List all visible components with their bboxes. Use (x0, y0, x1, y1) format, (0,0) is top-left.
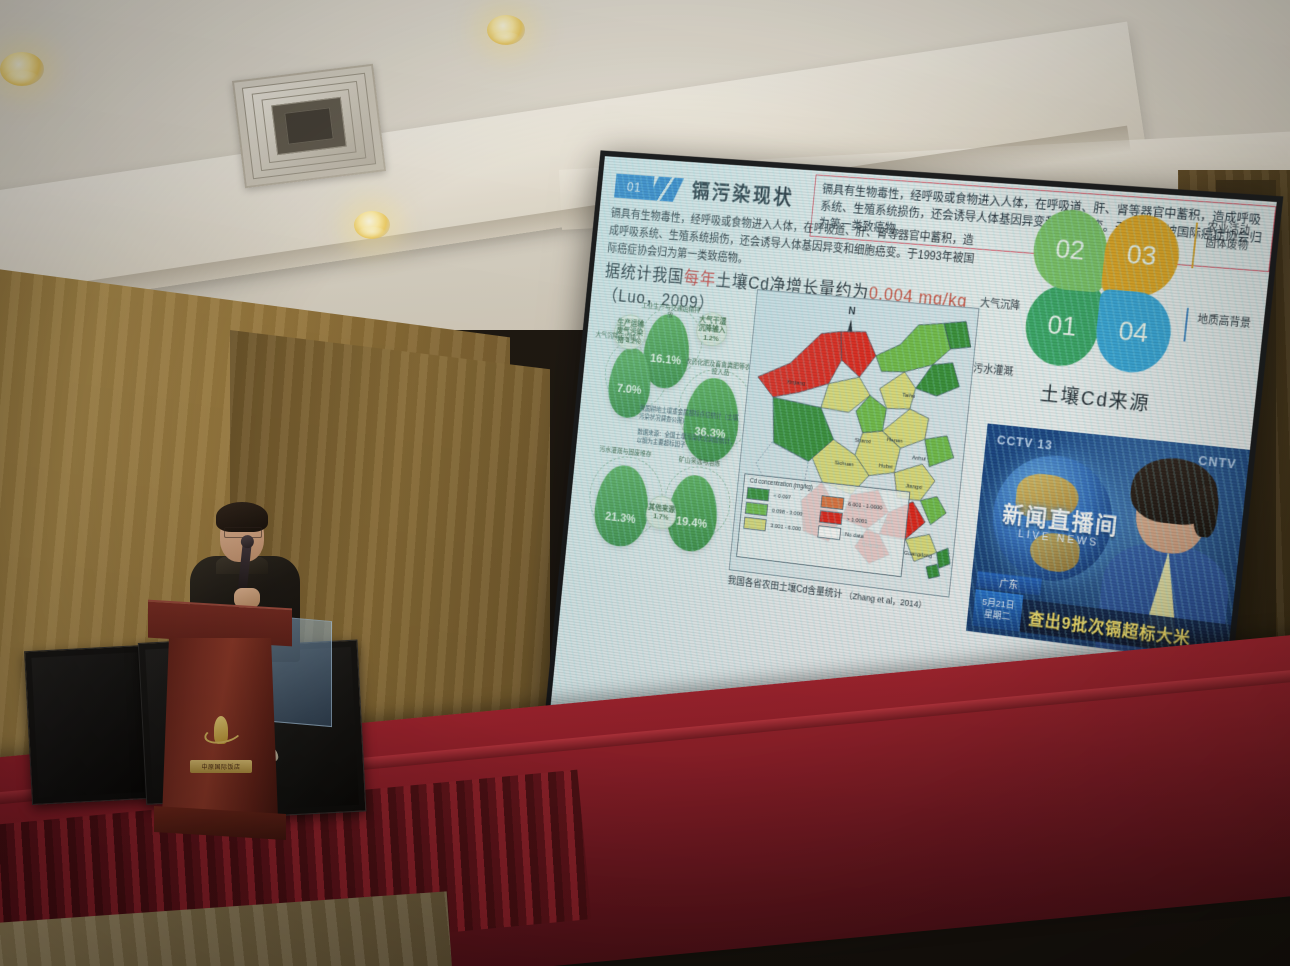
slide-title: 镉污染现状 (691, 175, 796, 210)
petal-02: 02 (1030, 207, 1111, 293)
lectern: 中原国际饭店 (160, 604, 280, 834)
svg-text:Taihu: Taihu (902, 393, 915, 400)
hotel-emblem-icon (206, 716, 236, 752)
legend-range: < 0.097 (773, 494, 791, 502)
bubble-value: 19.4% (675, 513, 707, 531)
petal-number: 02 (1054, 233, 1086, 266)
legend-range: 0.098 - 3.000 (772, 509, 803, 518)
label-geology: 地质高背景 (1197, 313, 1252, 332)
stat-highlight: 每年 (683, 268, 717, 289)
cctv-logo: CCTV 13 (996, 432, 1053, 452)
bubble-value: 21.3% (605, 509, 637, 526)
news-weekday: 星期二 (983, 609, 1010, 624)
svg-text:Anhui: Anhui (912, 455, 926, 463)
legend-range: No data (845, 532, 864, 540)
speaker-cabinet-left (24, 645, 152, 805)
cctv-news-clip: CCTV 13 CNTV 新闻直播间 LIVE NEWS 广东 5月21日 星期… (966, 423, 1252, 664)
petal-03: 03 (1100, 212, 1183, 298)
soil-cd-source-petals: 01 02 03 04 (1020, 207, 1187, 376)
ceiling-light-icon (0, 52, 44, 86)
petal-01: 01 (1022, 283, 1103, 369)
bubble-small-item: 生产运输废气污染物 4.2% (612, 313, 647, 351)
sources-diagram-title: 土壤Cd来源 (1010, 375, 1182, 419)
label-bar-geology (1183, 308, 1189, 342)
lectern-nameplate: 中原国际饭店 (190, 760, 252, 773)
news-date-block: 5月21日 星期二 (972, 589, 1023, 631)
stat-prefix: 据统计我国 (604, 261, 685, 286)
bubble-value: 16.1% (650, 351, 682, 368)
label-agriculture: 农业活动 固体废物 (1205, 221, 1251, 254)
petal-04: 04 (1092, 289, 1174, 376)
ceiling-light-icon (487, 15, 525, 45)
air-vent-icon (232, 64, 386, 189)
petal-number: 04 (1117, 315, 1150, 349)
lectern-body: 中原国际饭店 (162, 638, 278, 818)
svg-text:Shanxi: Shanxi (854, 438, 871, 446)
ceiling-light-icon (354, 211, 390, 239)
side-label-wastewater: 污水灌溉 (972, 362, 1014, 380)
legend-range: 3.001 - 6.000 (770, 523, 801, 532)
legend-range: > 1.0001 (846, 517, 867, 525)
bubble-value: 7.0% (616, 381, 642, 397)
legend-range: 6.001 - 1.0000 (848, 502, 883, 512)
label-agriculture-line2: 固体废物 (1205, 236, 1249, 254)
presentation-photo-scene: 01 镉污染现状 镉具有生物毒性，经呼吸或食物进入人体，在呼吸道、肝、肾等器官中… (0, 0, 1290, 966)
petal-number: 03 (1125, 238, 1158, 272)
china-cd-map: N (729, 289, 980, 598)
petal-number: 01 (1046, 309, 1078, 343)
bubble-small-label: 其他来源 1.7% (646, 502, 676, 522)
